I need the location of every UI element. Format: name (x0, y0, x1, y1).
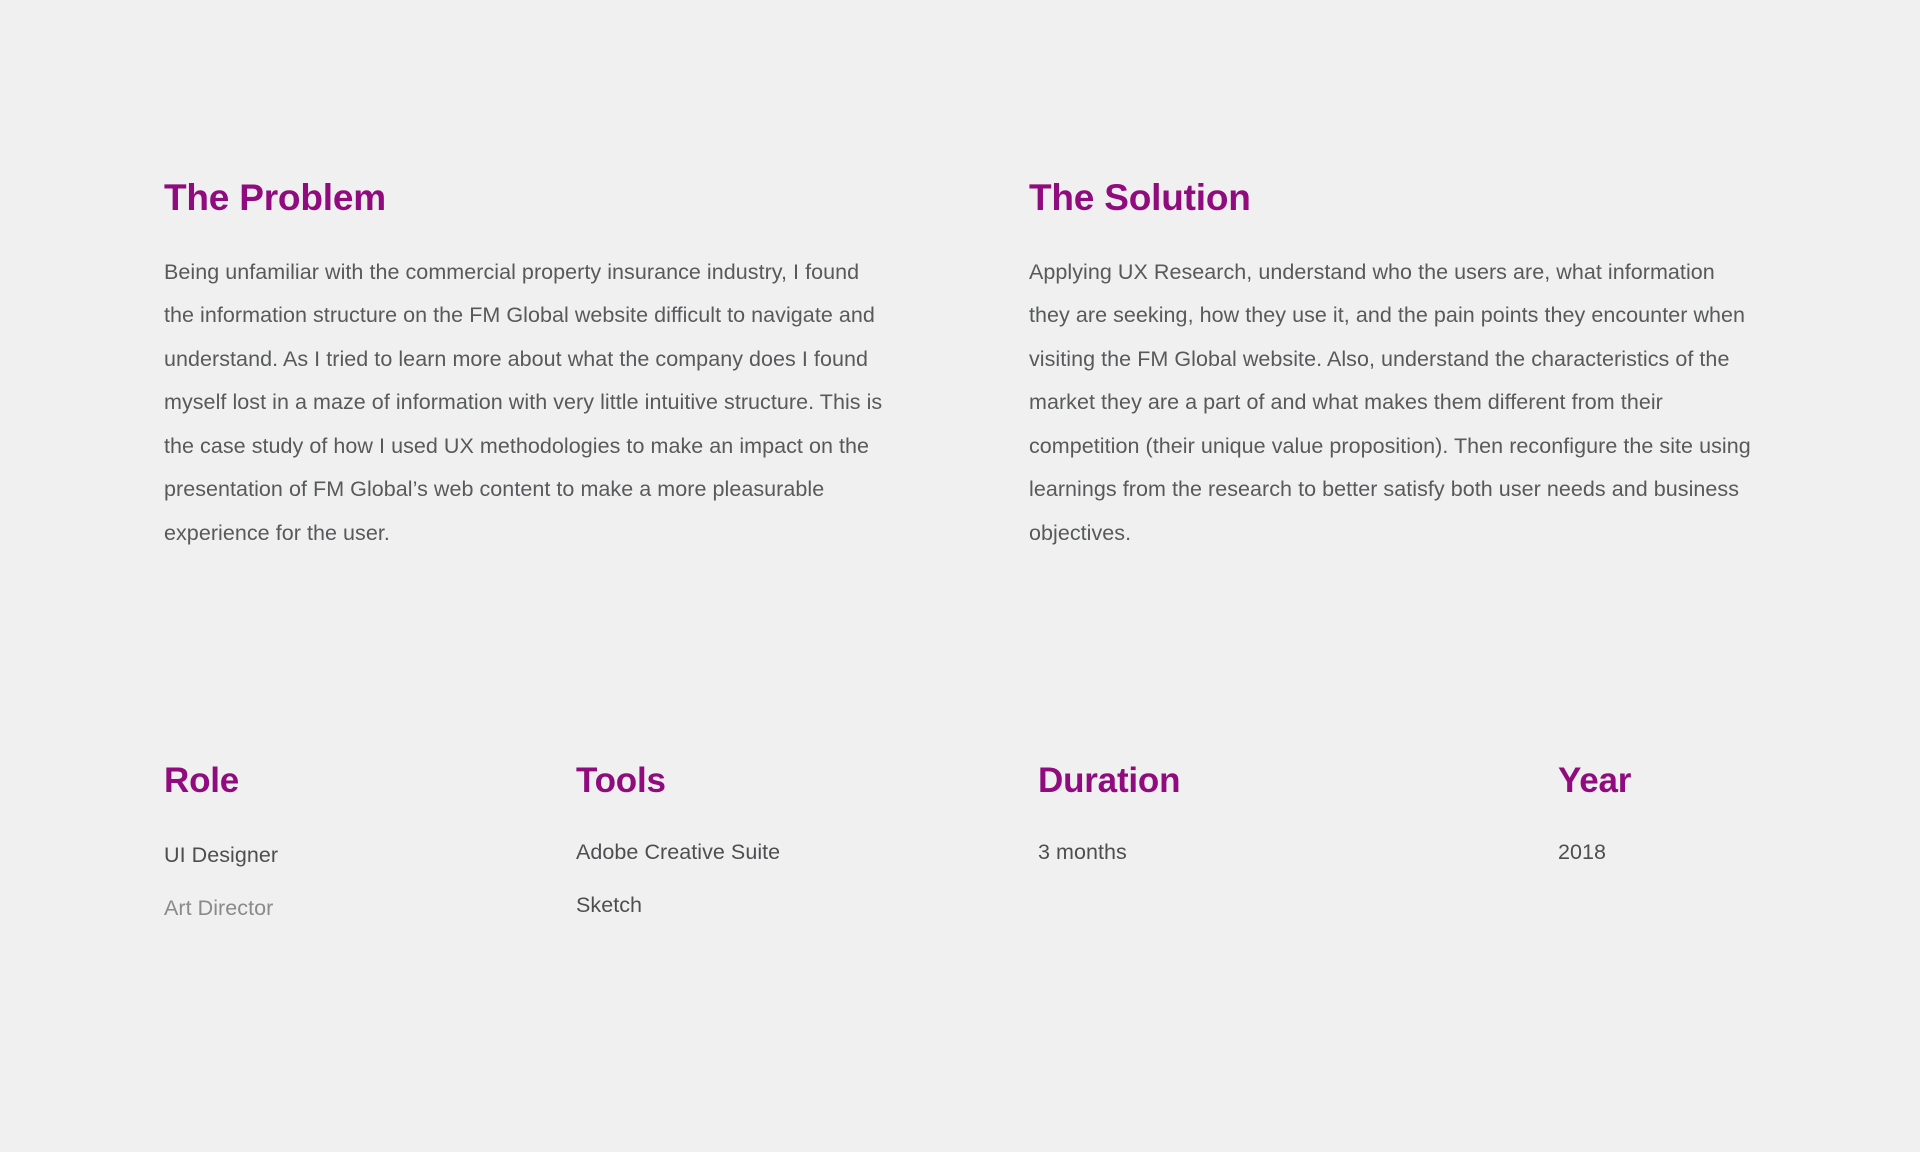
role-heading: Role (164, 762, 576, 801)
duration-value: 3 months (1038, 826, 1558, 879)
role-value: UI Designer (164, 829, 576, 882)
meta-column-role: Role UI Designer Art Director (164, 762, 576, 935)
project-meta-row: Role UI Designer Art Director Tools Adob… (164, 762, 1784, 935)
problem-paragraph: Being unfamiliar with the commercial pro… (164, 251, 889, 556)
role-value-list: UI Designer Art Director (164, 829, 576, 935)
solution-column: The Solution Applying UX Research, under… (1029, 178, 1754, 555)
meta-column-duration: Duration 3 months (1038, 762, 1558, 879)
solution-paragraph: Applying UX Research, understand who the… (1029, 251, 1754, 556)
solution-heading: The Solution (1029, 178, 1754, 219)
duration-value-list: 3 months (1038, 826, 1558, 879)
meta-column-year: Year 2018 (1558, 762, 1778, 879)
meta-column-tools: Tools Adobe Creative Suite Sketch (576, 762, 1038, 932)
year-heading: Year (1558, 762, 1778, 801)
tools-value-list: Adobe Creative Suite Sketch (576, 826, 1038, 932)
case-study-page: The Problem Being unfamiliar with the co… (0, 0, 1920, 1152)
role-value: Art Director (164, 882, 576, 935)
tools-value: Sketch (576, 879, 1038, 932)
tools-heading: Tools (576, 762, 1038, 801)
duration-heading: Duration (1038, 762, 1558, 801)
year-value-list: 2018 (1558, 826, 1778, 879)
narrative-section: The Problem Being unfamiliar with the co… (164, 178, 1764, 555)
problem-heading: The Problem (164, 178, 889, 219)
year-value: 2018 (1558, 826, 1778, 879)
tools-value: Adobe Creative Suite (576, 826, 1038, 879)
problem-column: The Problem Being unfamiliar with the co… (164, 178, 889, 555)
